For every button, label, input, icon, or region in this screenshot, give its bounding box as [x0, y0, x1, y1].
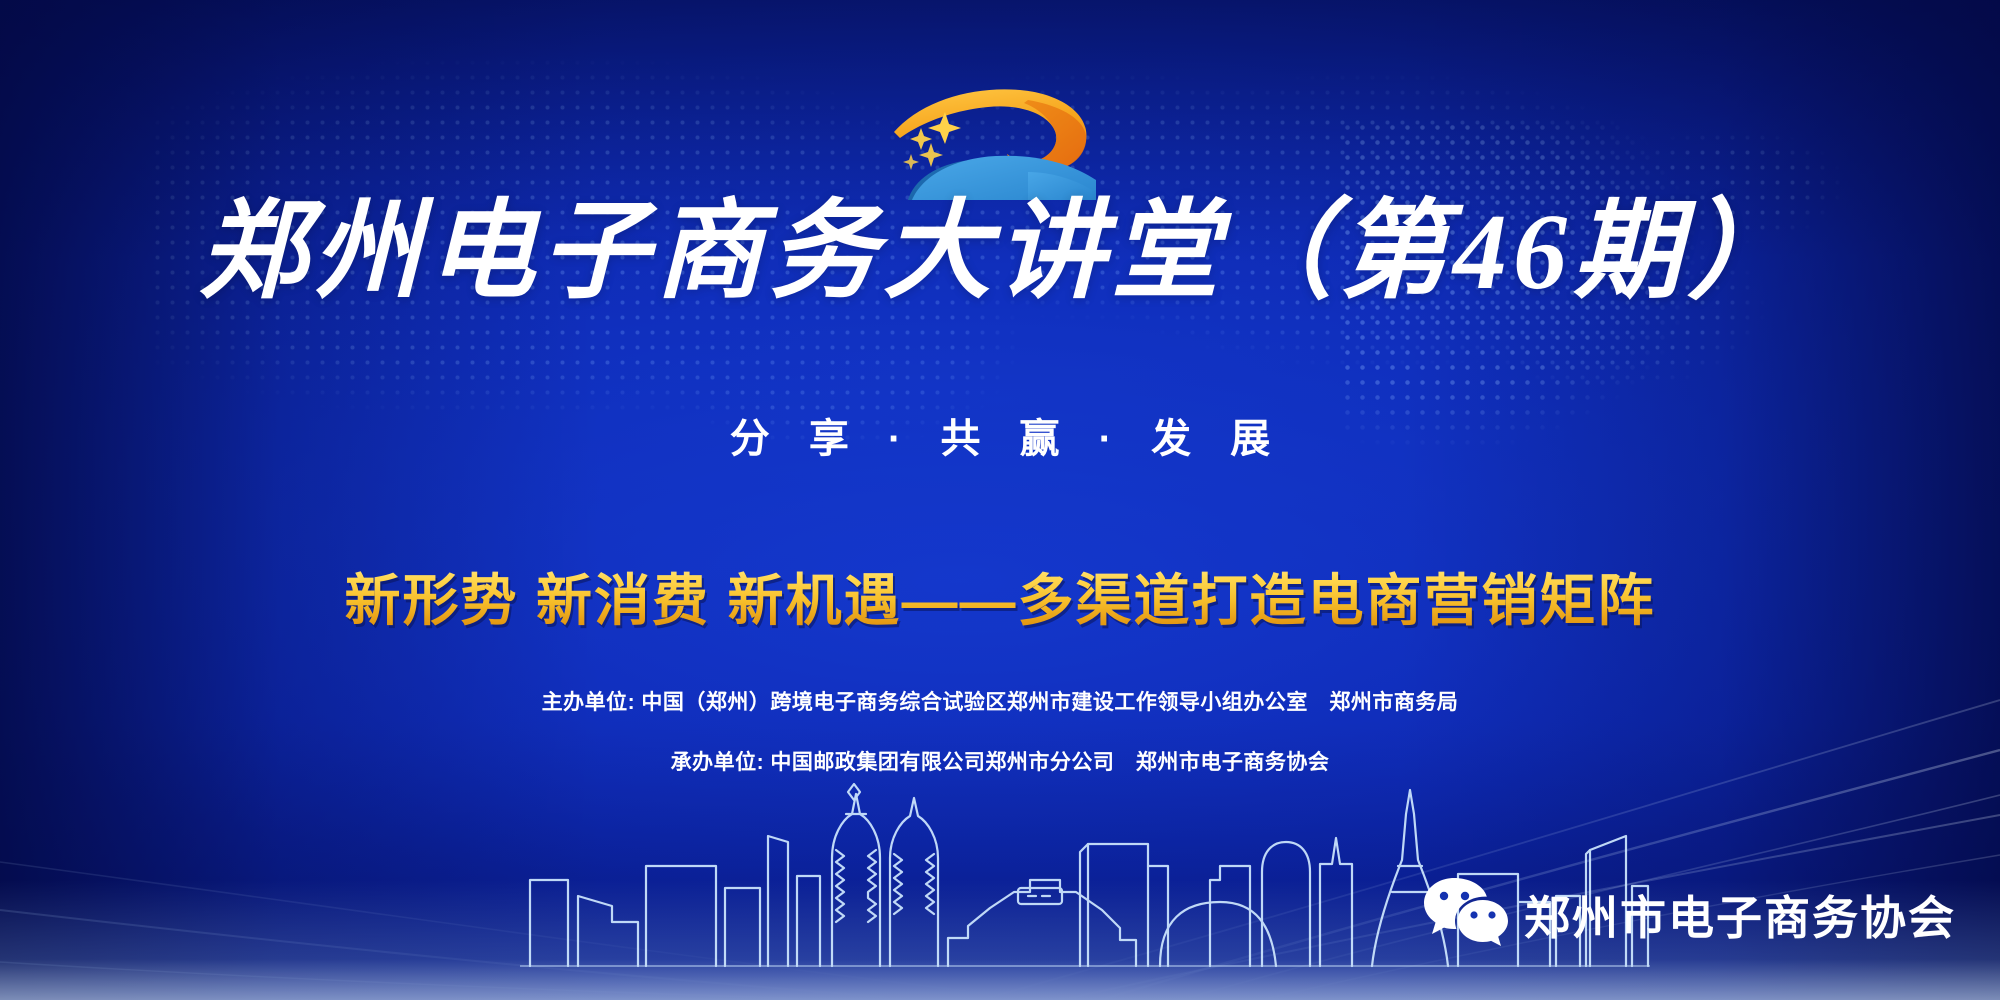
wechat-badge: 郑州市电子商务协会 [1424, 876, 1956, 953]
subtitle-slogan: 分 享 · 共 赢 · 发 展 [0, 406, 2000, 464]
wechat-icon [1424, 876, 1508, 953]
zhengzhou-ecommerce-swoosh-logo [878, 80, 1108, 200]
organizer-line: 主办单位: 中国（郑州）跨境电子商务综合试验区郑州市建设工作领导小组办公室 郑州… [0, 686, 2000, 716]
main-title: 郑州电子商务大讲堂（第46期） [0, 196, 2000, 310]
theme-headline: 新形势 新消费 新机遇——多渠道打造电商营销矩阵 [0, 556, 2000, 637]
poster-canvas: 郑州电子商务大讲堂（第46期） 分 享 · 共 赢 · 发 展 新形势 新消费 … [0, 0, 2000, 1000]
wechat-account-name: 郑州市电子商务协会 [1524, 882, 1956, 948]
